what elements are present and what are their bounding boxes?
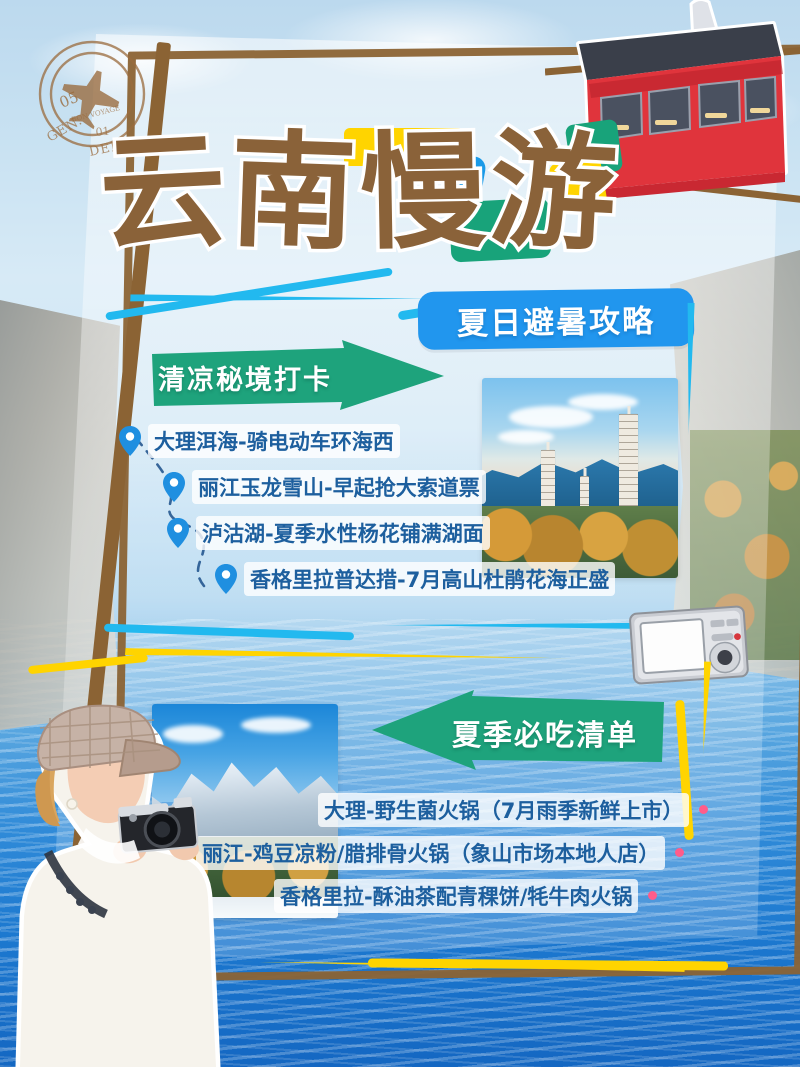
list-item[interactable]: 香格里拉普达措-7月高山杜鹃花海正盛 (214, 556, 638, 602)
dot-bullet-icon (699, 805, 708, 814)
title-char-1: 云 (96, 105, 235, 280)
list-item-label: 香格里拉-酥油茶配青稞饼/牦牛肉火锅 (274, 879, 638, 913)
list-item[interactable]: 大理-野生菌火锅（7月雨季新鲜上市） (318, 788, 716, 831)
location-pin-icon (162, 471, 186, 503)
list-item-label: 大理洱海-骑电动车环海西 (148, 424, 400, 458)
list-item-label: 丽江玉龙雪山-早起抢大索道票 (192, 470, 486, 504)
dot-bullet-icon (675, 848, 684, 857)
page-title: 云南慢游 (100, 108, 720, 278)
location-pin-icon (118, 425, 142, 457)
location-pin-icon (166, 517, 190, 549)
list-item-label: 泸沽湖-夏季水性杨花铺满湖面 (196, 516, 490, 550)
dot-bullet-icon (648, 891, 657, 900)
list-item[interactable]: 香格里拉-酥油茶配青稞饼/牦牛肉火锅 (274, 874, 716, 917)
list-item[interactable]: 大理洱海-骑电动车环海西 (118, 418, 638, 464)
list-item-label: 丽江-鸡豆凉粉/腊排骨火锅（象山市场本地人店） (196, 836, 665, 870)
title-char-3: 慢 (359, 107, 492, 277)
woman-with-camera-photo (0, 700, 224, 1067)
poster-root: 05 GEN. DEL.G BON VOYAGE 01 (0, 0, 800, 1067)
location-pin-icon (214, 563, 238, 595)
list-item[interactable]: 丽江-鸡豆凉粉/腊排骨火锅（象山市场本地人店） (196, 831, 716, 874)
list-item[interactable]: 丽江玉龙雪山-早起抢大索道票 (162, 464, 638, 510)
section-two-list: 大理-野生菌火锅（7月雨季新鲜上市） 丽江-鸡豆凉粉/腊排骨火锅（象山市场本地人… (196, 788, 716, 917)
title-char-2: 南 (227, 106, 363, 278)
section-one-list: 大理洱海-骑电动车环海西 丽江玉龙雪山-早起抢大索道票 泸沽湖-夏季水性杨花铺满… (118, 418, 638, 602)
poster-title-group: 云南慢游 (100, 108, 720, 278)
list-item-label: 香格里拉普达措-7月高山杜鹃花海正盛 (244, 562, 615, 596)
section-two-heading: 夏季必吃清单 (452, 712, 638, 754)
list-item[interactable]: 泸沽湖-夏季水性杨花铺满湖面 (166, 510, 638, 556)
section-one-heading: 清凉秘境打卡 (158, 358, 332, 397)
list-item-label: 大理-野生菌火锅（7月雨季新鲜上市） (318, 793, 689, 827)
title-char-4: 游 (486, 105, 625, 280)
